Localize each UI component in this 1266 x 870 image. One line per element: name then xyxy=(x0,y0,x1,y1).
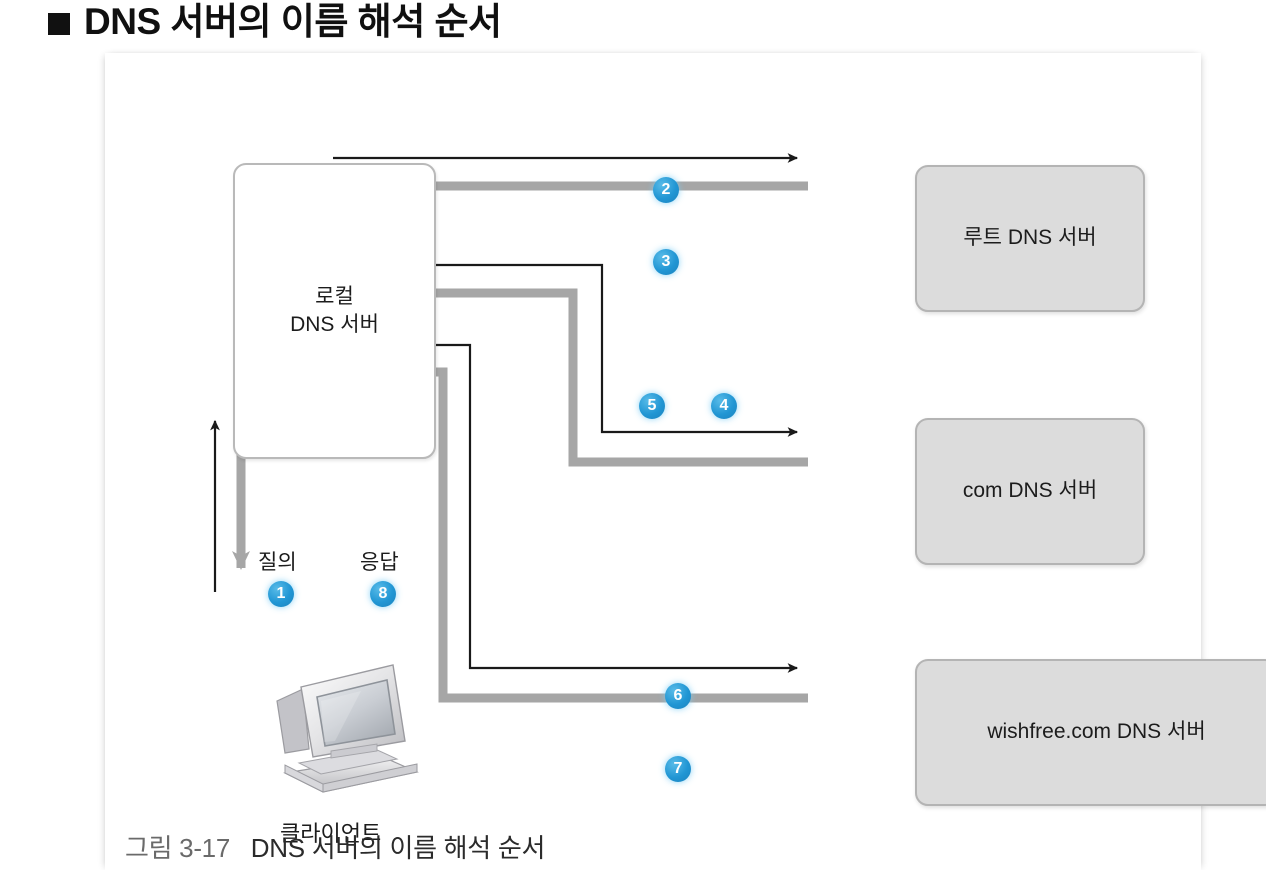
badge-step-6: 6 xyxy=(665,683,691,709)
label-query: 질의 xyxy=(258,546,297,576)
node-wishfree-dns-server[interactable]: wishfree.com DNS 서버 xyxy=(915,659,1266,806)
node-local-dns-server[interactable]: 로컬 DNS 서버 xyxy=(233,163,436,459)
badge-step-7: 7 xyxy=(665,756,691,782)
badge-step-2: 2 xyxy=(653,177,679,203)
node-wishfree-label: wishfree.com DNS 서버 xyxy=(987,718,1205,746)
slide-canvas: DNS 서버의 이름 해석 순서 xyxy=(0,0,1266,870)
badge-step-1: 1 xyxy=(268,581,294,607)
figure-panel: 로컬 DNS 서버 루트 DNS 서버 com DNS 서버 wishfree.… xyxy=(105,53,1201,870)
node-local-label-line1: 로컬 xyxy=(290,283,379,311)
badge-step-8: 8 xyxy=(370,581,396,607)
page-title: DNS 서버의 이름 해석 순서 xyxy=(48,2,502,43)
node-root-label: 루트 DNS 서버 xyxy=(963,224,1096,252)
badge-step-5: 5 xyxy=(639,393,665,419)
client-computer-icon xyxy=(265,645,430,810)
figure-caption-title: DNS 서버의 이름 해석 순서 xyxy=(251,833,545,863)
square-bullet-icon xyxy=(48,13,70,35)
node-root-dns-server[interactable]: 루트 DNS 서버 xyxy=(915,165,1145,312)
badge-step-3: 3 xyxy=(653,249,679,275)
page-title-text: DNS 서버의 이름 해석 순서 xyxy=(84,2,502,43)
node-com-dns-server[interactable]: com DNS 서버 xyxy=(915,418,1145,565)
node-local-label-line2: DNS 서버 xyxy=(290,311,379,339)
figure-caption-number: 그림 3-17 xyxy=(125,833,230,863)
label-response: 응답 xyxy=(360,546,399,576)
badge-step-4: 4 xyxy=(711,393,737,419)
figure-caption: 그림 3-17 DNS 서버의 이름 해석 순서 xyxy=(125,828,545,865)
node-com-label: com DNS 서버 xyxy=(963,477,1097,505)
